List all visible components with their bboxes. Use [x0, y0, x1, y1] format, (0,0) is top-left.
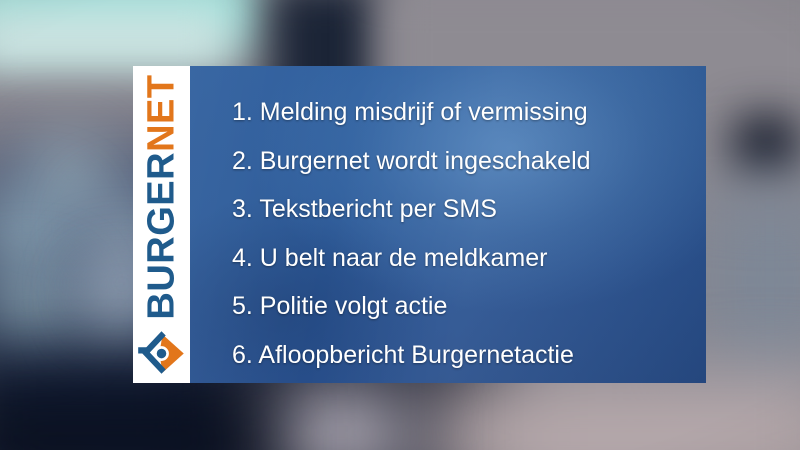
bg-bokeh-1: [34, 148, 104, 204]
burgernet-wordmark: BURGERNET: [133, 66, 190, 328]
bg-teal-glow: [0, 10, 230, 70]
list-item: 1. Melding misdrijf of vermissing: [232, 88, 696, 137]
burgernet-logo-strip: BURGERNET: [133, 66, 190, 383]
wordmark-net: NET: [141, 74, 183, 152]
screenshot-frame: BURGERNET 1. Melding misdrijf of vermiss…: [0, 0, 800, 450]
burgernet-diamond-logo: [135, 326, 188, 379]
list-item: 2. Burgernet wordt ingeschakeld: [232, 137, 696, 186]
list-item: 4. U belt naar de meldkamer: [232, 234, 696, 283]
steps-panel: 1. Melding misdrijf of vermissing 2. Bur…: [190, 66, 706, 383]
steps-list: 1. Melding misdrijf of vermissing 2. Bur…: [232, 88, 696, 379]
list-item: 3. Tekstbericht per SMS: [232, 185, 696, 234]
list-item: 6. Afloopbericht Burgernetactie: [232, 331, 696, 380]
wordmark-burger: BURGER: [141, 152, 183, 320]
bg-warm-highlight: [270, 392, 410, 450]
bg-desk-mass: [700, 180, 800, 380]
bg-warm-lower-right: [430, 382, 800, 450]
bg-monitor-shape: [735, 118, 797, 176]
bg-dark-bottom-left: [0, 395, 260, 450]
list-item: 5. Politie volgt actie: [232, 282, 696, 331]
